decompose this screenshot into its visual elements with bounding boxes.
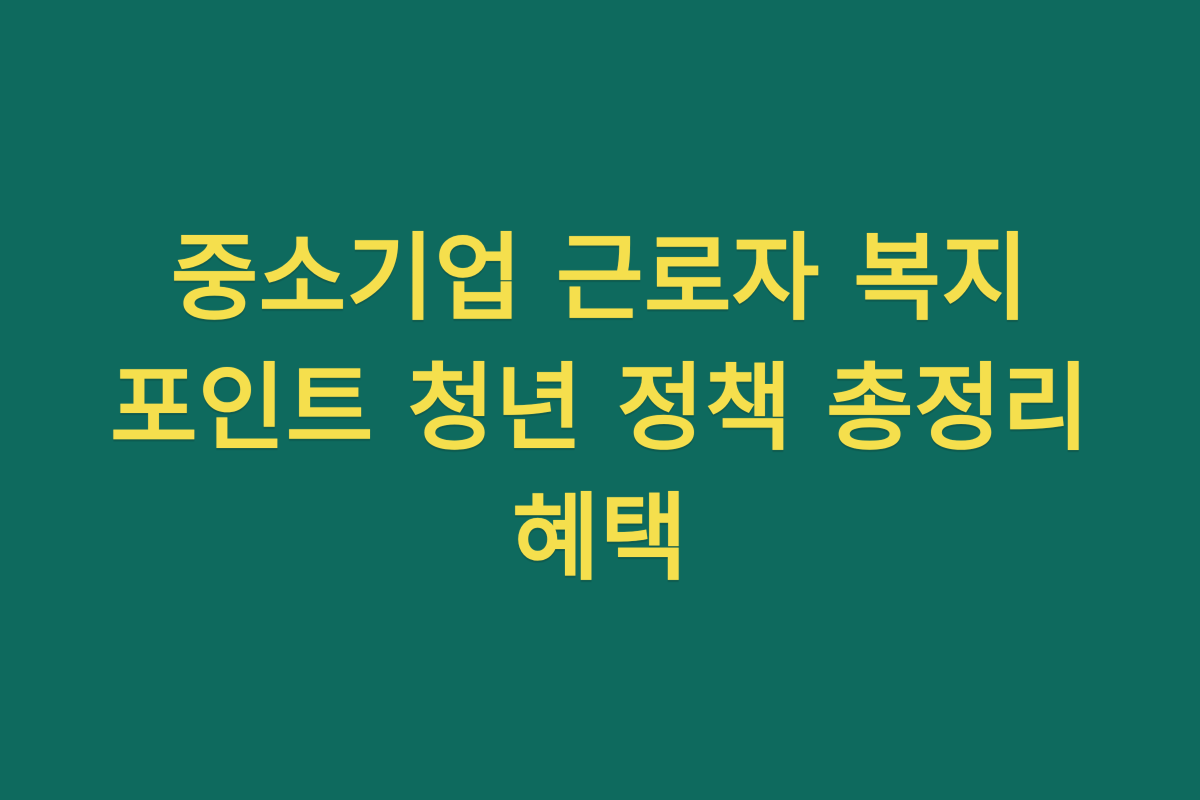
thumbnail-canvas: 중소기업 근로자 복지 포인트 청년 정책 총정리 혜택 [0,0,1200,800]
title-line-1: 중소기업 근로자 복지 [171,214,1029,344]
title-line-2: 포인트 청년 정책 총정리 [110,344,1090,474]
title-line-3: 혜택 [512,474,688,604]
title-block: 중소기업 근로자 복지 포인트 청년 정책 총정리 혜택 [45,214,1155,604]
